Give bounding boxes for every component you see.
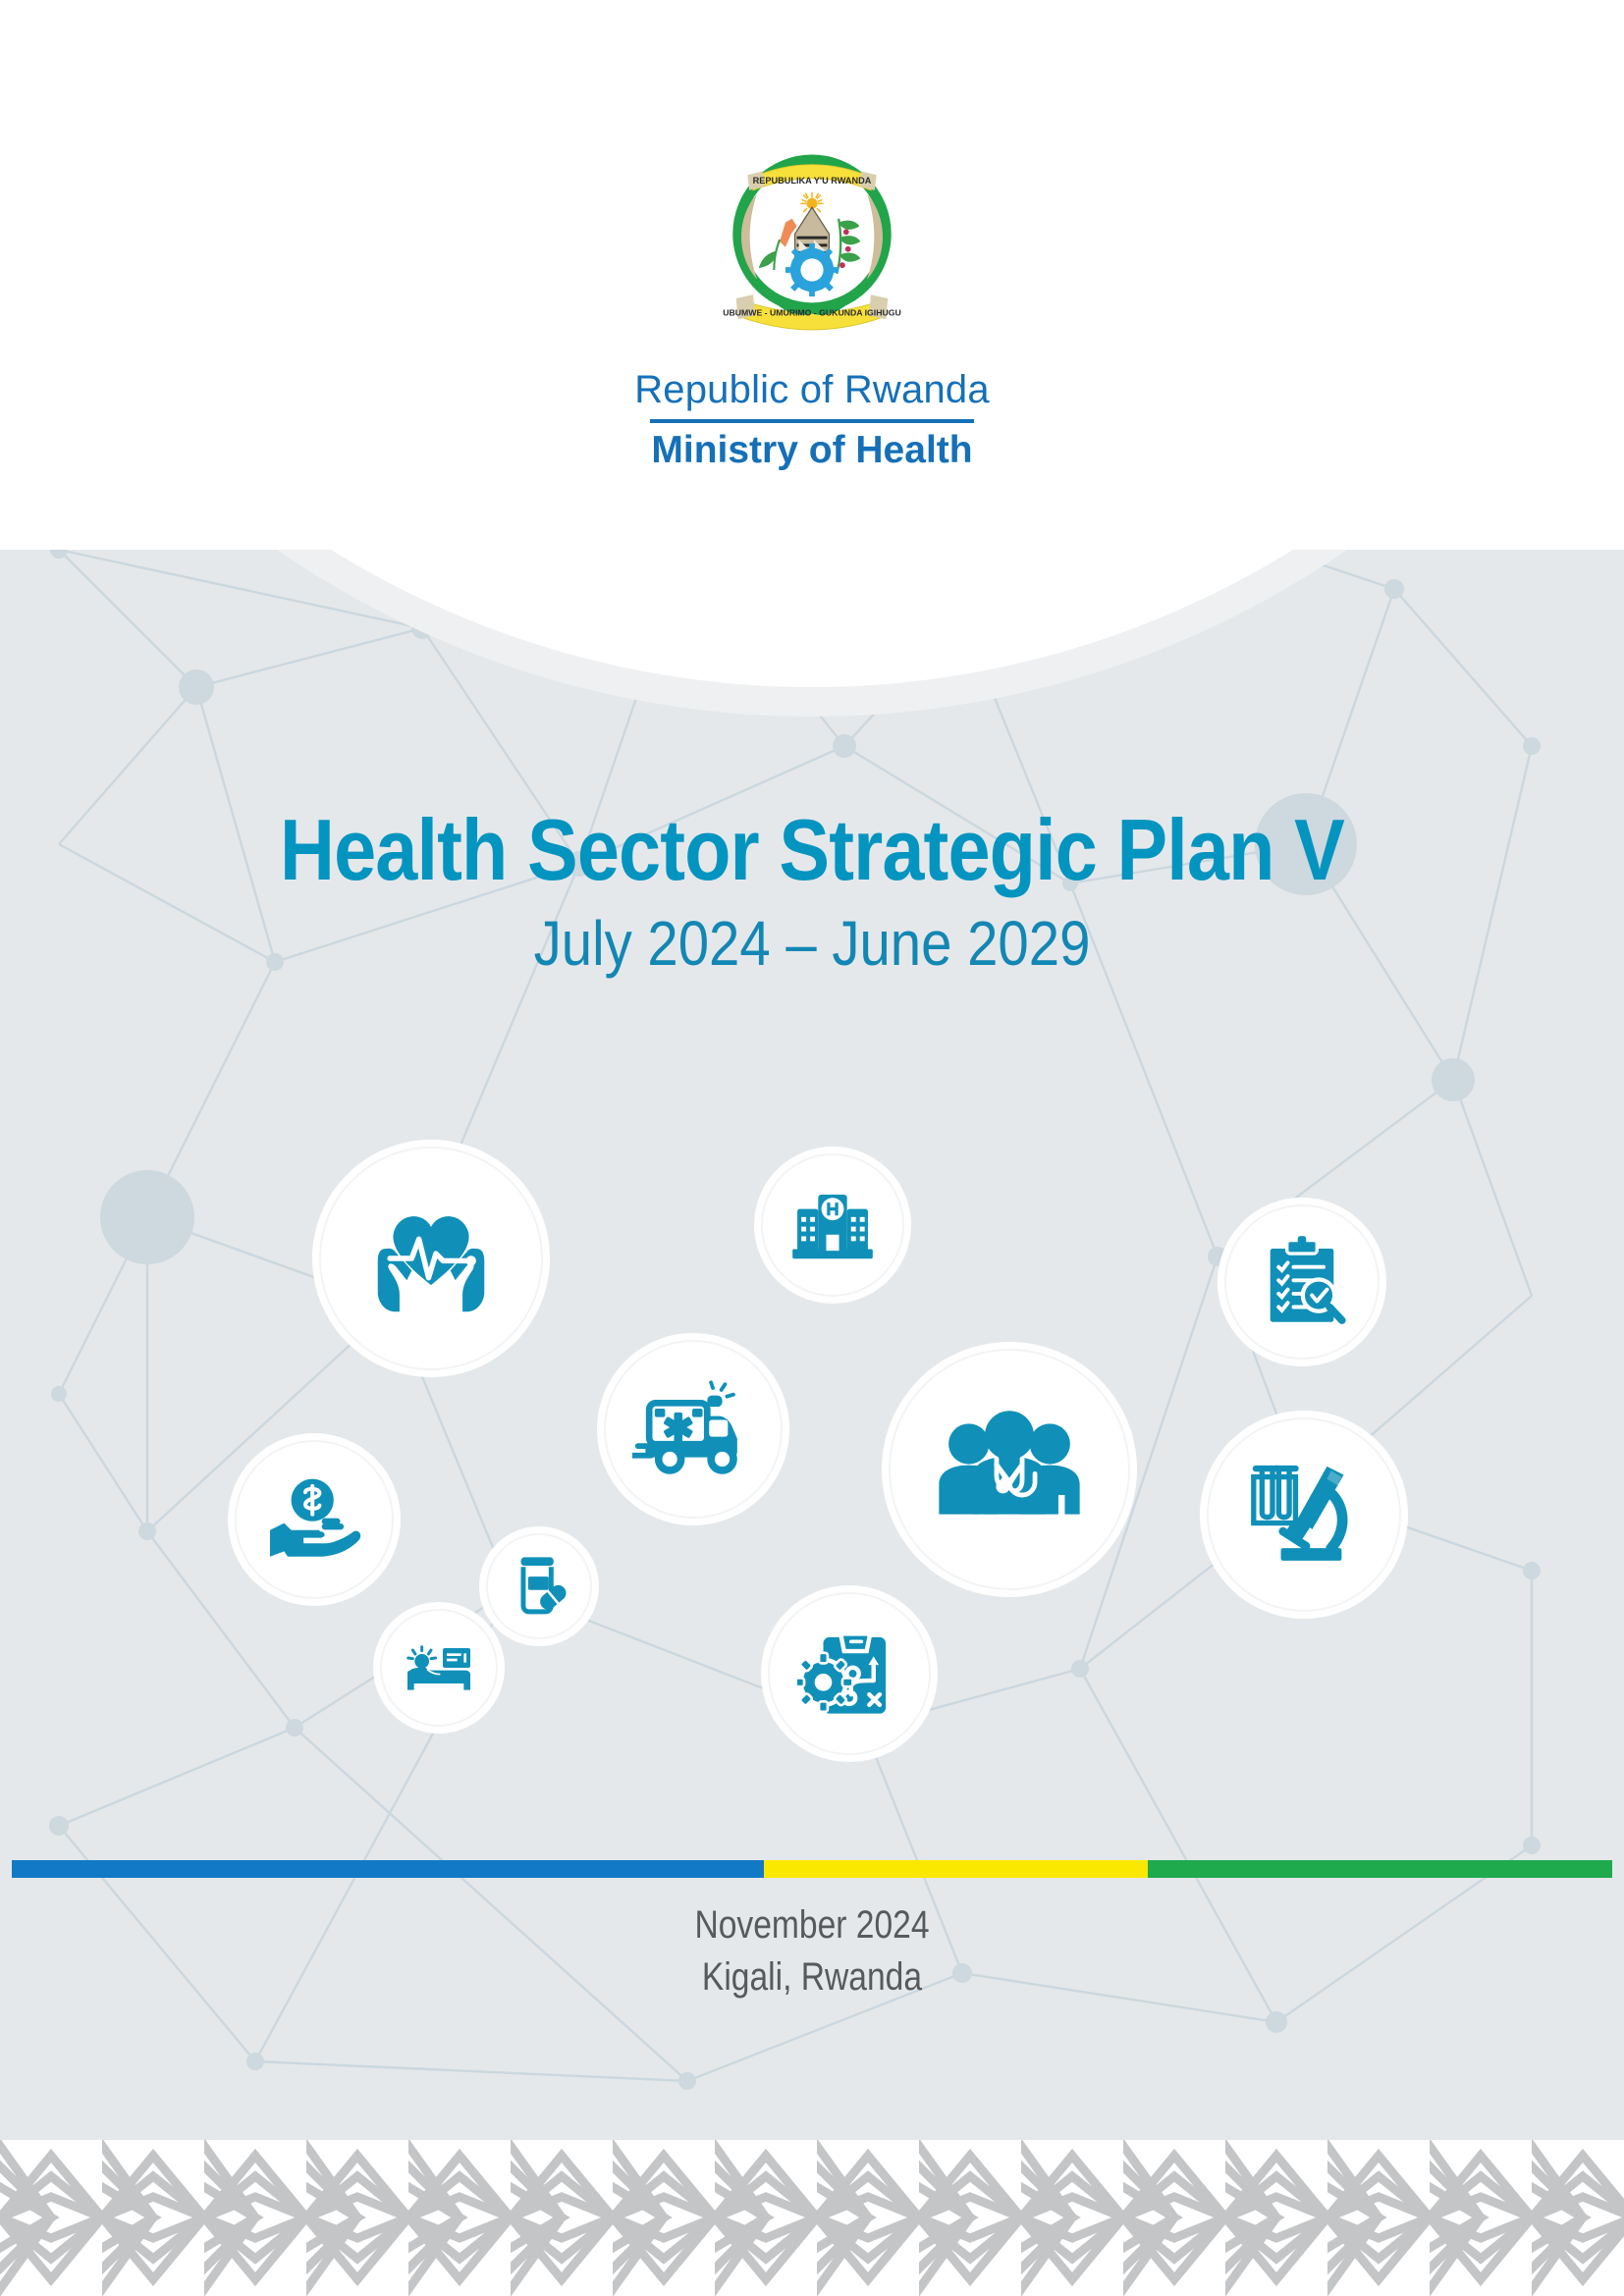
- rwanda-flag-bar: [12, 1860, 1612, 1878]
- clipboard-search-bubble: [1218, 1198, 1386, 1366]
- imigongo-pattern-band: [0, 2140, 1624, 2296]
- document-cover-page: REPUBULIKA Y'U RWANDA: [0, 0, 1624, 2296]
- clipboard-search-icon: [1252, 1232, 1352, 1332]
- microscope-bubble: [1200, 1411, 1408, 1619]
- health-workforce-icon: [935, 1395, 1084, 1544]
- publication-date: November 2024: [130, 1899, 1493, 1951]
- pill-bottle-bubble: [479, 1526, 599, 1646]
- publication-location: Kigali, Rwanda: [130, 1951, 1493, 2003]
- imigongo-pattern: [0, 2140, 1624, 2296]
- flag-segment-green: [1148, 1860, 1612, 1878]
- heart-in-hands-icon: [358, 1186, 504, 1331]
- health-workforce-bubble: [882, 1342, 1137, 1597]
- money-hand-bubble: [228, 1433, 401, 1606]
- icon-cluster: [0, 0, 1624, 2140]
- ambulance-icon: [632, 1368, 754, 1490]
- patient-bed-icon: [400, 1629, 478, 1707]
- flag-segment-yellow: [764, 1860, 1148, 1878]
- hospital-bubble: [754, 1147, 911, 1304]
- ambulance-bubble: [597, 1333, 789, 1525]
- hospital-icon: [785, 1177, 881, 1273]
- microscope-icon: [1241, 1452, 1367, 1577]
- patient-bed-bubble: [373, 1602, 505, 1734]
- heart-in-hands-bubble: [312, 1140, 550, 1377]
- strategy-board-icon: [797, 1622, 901, 1726]
- strategy-board-bubble: [761, 1585, 938, 1762]
- footer-block: November 2024 Kigali, Rwanda: [130, 1899, 1493, 2003]
- flag-segment-blue: [12, 1860, 764, 1878]
- pill-bottle-icon: [503, 1550, 575, 1623]
- money-hand-icon: [261, 1467, 367, 1573]
